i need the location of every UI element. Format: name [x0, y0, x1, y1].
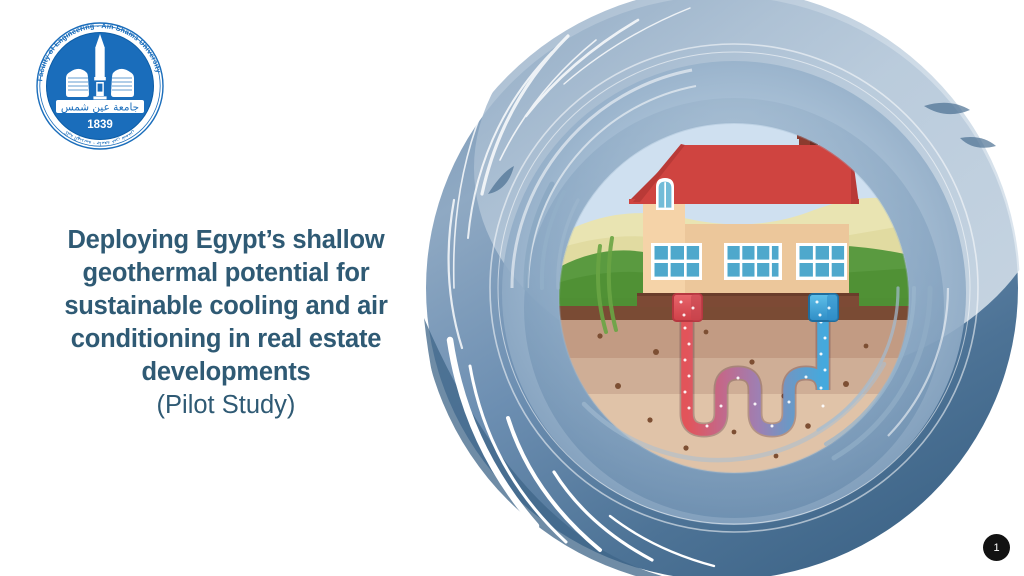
title-line-5: developments [28, 356, 424, 389]
attic-window [656, 178, 674, 210]
presentation-slide: Faculty of Engineering - Ain Shams Unive… [0, 0, 1024, 576]
title-line-2: geothermal potential for [28, 257, 424, 290]
title-subtitle: (Pilot Study) [28, 389, 424, 422]
title-line-1: Deploying Egypt’s shallow [28, 224, 424, 257]
page-title: Deploying Egypt’s shallow geothermal pot… [28, 224, 424, 422]
window-middle [724, 243, 782, 280]
slide-number-value: 1 [993, 542, 999, 554]
svg-text:جامعة عين شمس: جامعة عين شمس [61, 102, 139, 114]
window-right [796, 243, 847, 280]
cool-pipe-head [809, 294, 838, 321]
slide-number-badge: 1 [983, 534, 1010, 561]
warm-pipe-head [673, 294, 702, 321]
topsoil [554, 306, 914, 320]
window-gable [651, 243, 702, 280]
university-logo: Faculty of Engineering - Ain Shams Unive… [30, 16, 170, 156]
logo-year: 1839 [87, 119, 113, 131]
title-line-3: sustainable cooling and air [28, 290, 424, 323]
logo-arabic-band: جامعة عين شمس [56, 100, 144, 114]
soil-upper [554, 320, 914, 358]
title-line-4: conditioning in real estate [28, 323, 424, 356]
geothermal-illustration [404, 0, 1024, 576]
